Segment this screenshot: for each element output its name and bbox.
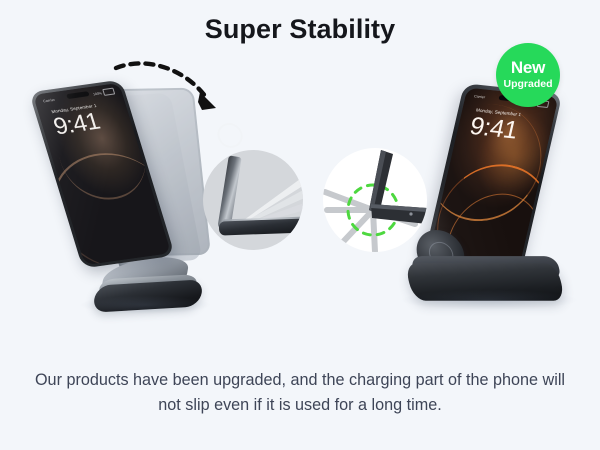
inset-hinge-angle-detail [203,150,303,250]
right-phone-time: 9:41 [467,113,520,144]
left-phone-carrier: Carrier [42,97,55,102]
left-phone-battery-percent: 100% [92,91,102,96]
badge-primary-label: New [511,59,545,77]
left-product-shadow [80,296,210,314]
right-phone-carrier: Carrier [474,94,486,99]
hinge-base [219,218,303,235]
page-title: Super Stability [0,14,600,45]
product-feature-banner: Super Stability Carrier 100% Monday, Sep… [0,0,600,450]
feature-caption: Our products have been upgraded, and the… [28,368,572,418]
right-product-shadow [401,290,577,310]
inset-rotation-range-detail [323,148,427,252]
ghost-camera-lens-icon [215,122,245,150]
motion-arrow-icon [112,54,228,118]
rotation-range-icon [323,148,427,252]
new-upgraded-badge: New Upgraded [496,43,560,107]
badge-secondary-label: Upgraded [503,78,552,91]
